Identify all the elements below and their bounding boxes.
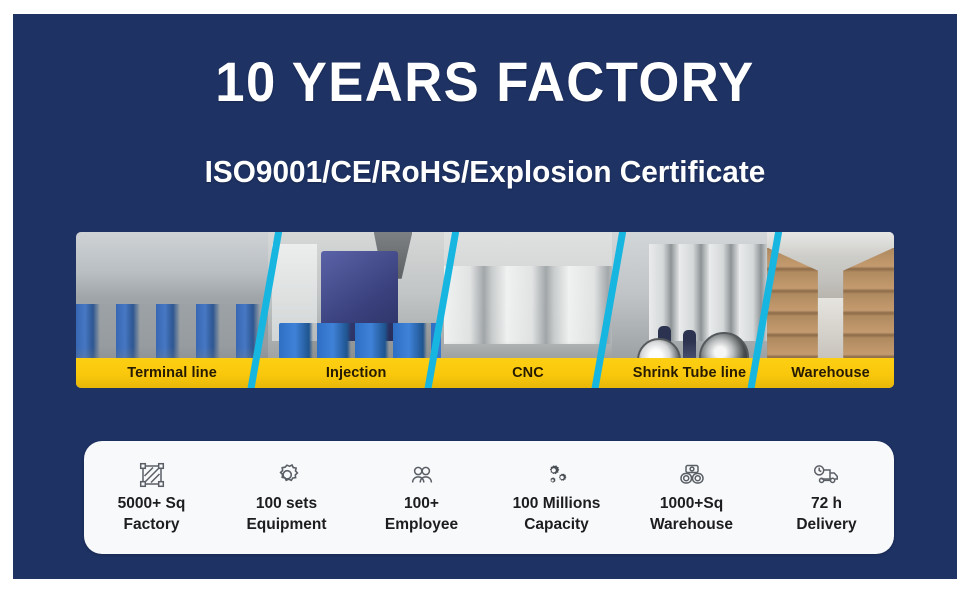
stat-employee: 100+ Employee (354, 460, 489, 535)
stat-value: 100+ (404, 495, 439, 514)
stat-value: 100 Millions (513, 495, 601, 514)
factory-promo-banner: 10 YEARS FACTORY ISO9001/CE/RoHS/Explosi… (0, 0, 970, 600)
area-square-icon (138, 460, 166, 490)
stat-value: 72 h (811, 495, 842, 514)
stat-warehouse: 1000+Sq Warehouse (624, 460, 759, 535)
company-stats-card: 5000+ Sq Factory 100 sets Equipment (84, 441, 894, 554)
stat-equipment: 100 sets Equipment (219, 460, 354, 535)
stat-label: Equipment (246, 516, 326, 535)
delivery-truck-clock-icon (811, 460, 843, 490)
stat-label: Capacity (524, 516, 589, 535)
banner-panel: 10 YEARS FACTORY ISO9001/CE/RoHS/Explosi… (13, 14, 957, 579)
stat-value: 1000+Sq (660, 495, 723, 514)
caption-shrink-tube-line: Shrink Tube line (612, 358, 767, 388)
stat-label: Warehouse (650, 516, 733, 535)
caption-cnc: CNC (444, 358, 612, 388)
stat-factory-area: 5000+ Sq Factory (84, 460, 219, 535)
stat-value: 5000+ Sq (118, 495, 186, 514)
stat-capacity: 100 Millions Capacity (489, 460, 624, 535)
stat-label: Employee (385, 516, 458, 535)
caption-warehouse: Warehouse (767, 358, 894, 388)
stat-label: Delivery (796, 516, 856, 535)
factory-photo-strip: Terminal line Injection CNC Shrink Tube … (76, 232, 894, 388)
stacked-boxes-icon (677, 460, 707, 490)
stat-label: Factory (124, 516, 180, 535)
certificate-subtitle: ISO9001/CE/RoHS/Explosion Certificate (32, 156, 938, 187)
gears-icon (542, 460, 572, 490)
photo-caption-bar: Terminal line Injection CNC Shrink Tube … (76, 358, 894, 388)
caption-injection: Injection (268, 358, 444, 388)
people-icon (408, 460, 436, 490)
stat-value: 100 sets (256, 495, 317, 514)
gear-icon (273, 460, 301, 490)
caption-terminal-line: Terminal line (76, 358, 268, 388)
page-title: 10 YEARS FACTORY (41, 54, 928, 110)
stat-delivery: 72 h Delivery (759, 460, 894, 535)
